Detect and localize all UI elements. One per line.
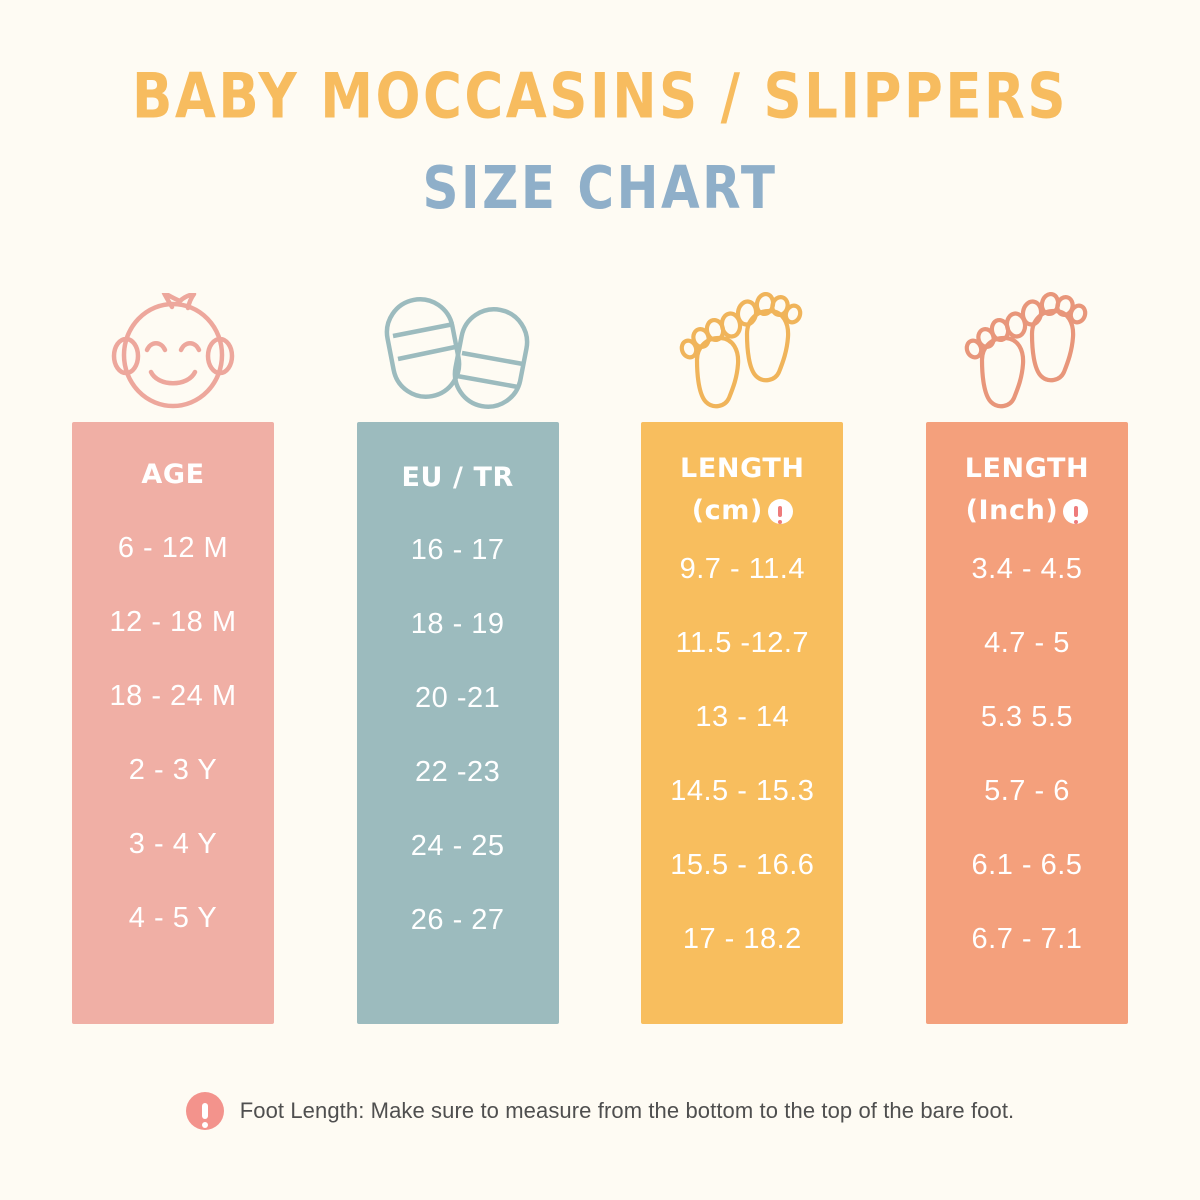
table-cell: 9.7 - 11.4	[641, 555, 843, 584]
page-subtitle: Size Chart	[0, 155, 1200, 223]
table-cell: 2 - 3 Y	[72, 756, 274, 785]
table-cell: 5.7 - 6	[926, 777, 1128, 806]
column-header-length-inch: LENGTH (Inch)	[926, 444, 1128, 532]
column-header-unit-line: (Inch)	[966, 490, 1089, 532]
table-cell: 13 - 14	[641, 703, 843, 732]
column-header-unit-line: (cm)	[692, 490, 793, 532]
table-cell: 18 - 24 M	[72, 682, 274, 711]
column-header-unit: (Inch)	[966, 490, 1059, 532]
footnote-text: Foot Length: Make sure to measure from t…	[240, 1098, 1015, 1124]
table-cell: 22 -23	[357, 758, 559, 787]
warning-exclamation-icon	[768, 499, 793, 524]
column-length-cm: LENGTH (cm) 9.7 - 11.4 11.5 -12.7 13 - 1…	[641, 282, 843, 1024]
table-cell: 24 - 25	[357, 832, 559, 861]
footprints-icon	[677, 282, 807, 422]
table-cell: 6.7 - 7.1	[926, 925, 1128, 954]
column-header-label: AGE	[141, 459, 204, 490]
table-cell: 6 - 12 M	[72, 534, 274, 563]
table-cell: 3.4 - 4.5	[926, 555, 1128, 584]
column-header-label: LENGTH	[965, 453, 1090, 484]
column-body-age: AGE 6 - 12 M 12 - 18 M 18 - 24 M 2 - 3 Y…	[72, 422, 274, 1024]
table-cell: 11.5 -12.7	[641, 629, 843, 658]
column-eu-tr: EU / TR 16 - 17 18 - 19 20 -21 22 -23 24…	[357, 282, 559, 1024]
table-cell: 16 - 17	[357, 536, 559, 565]
column-header-length-cm: LENGTH (cm)	[641, 444, 843, 532]
column-values-age: 6 - 12 M 12 - 18 M 18 - 24 M 2 - 3 Y 3 -…	[72, 496, 274, 1024]
warning-exclamation-icon	[186, 1092, 224, 1130]
column-age: AGE 6 - 12 M 12 - 18 M 18 - 24 M 2 - 3 Y…	[72, 282, 274, 1024]
footnote: Foot Length: Make sure to measure from t…	[0, 1092, 1200, 1130]
table-cell: 4 - 5 Y	[72, 904, 274, 933]
table-cell: 26 - 27	[357, 906, 559, 935]
footprints-icon	[962, 282, 1092, 422]
column-header-label: LENGTH	[680, 453, 805, 484]
column-body-length-inch: LENGTH (Inch) 3.4 - 4.5 4.7 - 5 5.3 5.5 …	[926, 422, 1128, 1024]
column-body-eu-tr: EU / TR 16 - 17 18 - 19 20 -21 22 -23 24…	[357, 422, 559, 1024]
table-cell: 3 - 4 Y	[72, 830, 274, 859]
table-cell: 12 - 18 M	[72, 608, 274, 637]
table-cell: 20 -21	[357, 684, 559, 713]
column-values-length-inch: 3.4 - 4.5 4.7 - 5 5.3 5.5 5.7 - 6 6.1 - …	[926, 532, 1128, 1024]
table-cell: 4.7 - 5	[926, 629, 1128, 658]
table-cell: 18 - 19	[357, 610, 559, 639]
column-header-unit: (cm)	[692, 490, 763, 532]
table-cell: 6.1 - 6.5	[926, 851, 1128, 880]
column-values-eu-tr: 16 - 17 18 - 19 20 -21 22 -23 24 - 25 26…	[357, 499, 559, 1024]
page-title-block: Baby Moccasins / Slippers Size Chart	[0, 62, 1200, 212]
table-cell: 5.3 5.5	[926, 703, 1128, 732]
table-cell: 14.5 - 15.3	[641, 777, 843, 806]
page-title: Baby Moccasins / Slippers	[0, 62, 1200, 134]
table-cell: 17 - 18.2	[641, 925, 843, 954]
size-chart-columns: AGE 6 - 12 M 12 - 18 M 18 - 24 M 2 - 3 Y…	[72, 282, 1128, 1024]
column-values-length-cm: 9.7 - 11.4 11.5 -12.7 13 - 14 14.5 - 15.…	[641, 532, 843, 1024]
baby-face-icon	[106, 282, 240, 422]
column-header-age: AGE	[72, 444, 274, 496]
warning-exclamation-icon	[1063, 499, 1088, 524]
column-header-label: EU / TR	[401, 462, 513, 493]
column-length-inch: LENGTH (Inch) 3.4 - 4.5 4.7 - 5 5.3 5.5 …	[926, 282, 1128, 1024]
slippers-icon	[384, 282, 532, 422]
table-cell: 15.5 - 16.6	[641, 851, 843, 880]
column-header-eu-tr: EU / TR	[357, 444, 559, 499]
column-body-length-cm: LENGTH (cm) 9.7 - 11.4 11.5 -12.7 13 - 1…	[641, 422, 843, 1024]
